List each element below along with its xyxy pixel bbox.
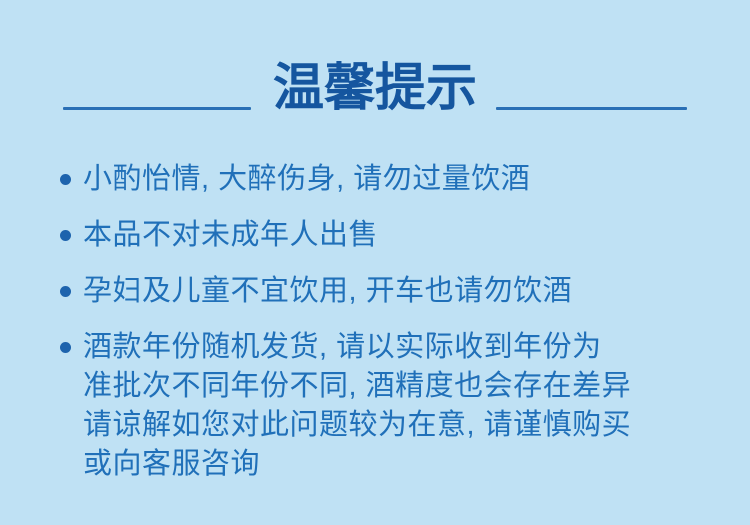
bullet-dot-icon bbox=[60, 286, 71, 297]
list-item-line: 孕妇及儿童不宜饮用, 开车也请勿饮酒 bbox=[83, 272, 720, 311]
bullet-dot-icon bbox=[60, 230, 71, 241]
bullet-dot-icon bbox=[60, 342, 71, 353]
header: 温馨提示 bbox=[0, 56, 750, 120]
list-item-line: 酒款年份随机发货, 请以实际收到年份为 bbox=[83, 328, 720, 367]
list-item: 酒款年份随机发货, 请以实际收到年份为 准批次不同年份不同, 酒精度也会存在差异… bbox=[60, 328, 720, 484]
list-item: 本品不对未成年人出售 bbox=[60, 216, 720, 255]
list-item: 小酌怡情, 大醉伤身, 请勿过量饮酒 bbox=[60, 160, 720, 199]
page-title: 温馨提示 bbox=[273, 60, 477, 116]
list-item: 孕妇及儿童不宜饮用, 开车也请勿饮酒 bbox=[60, 272, 720, 311]
notice-list: 小酌怡情, 大醉伤身, 请勿过量饮酒 本品不对未成年人出售 孕妇及儿童不宜饮用,… bbox=[60, 160, 720, 501]
list-item-text: 小酌怡情, 大醉伤身, 请勿过量饮酒 bbox=[83, 160, 720, 199]
list-item-line: 请谅解如您对此问题较为在意, 请谨慎购买 bbox=[83, 406, 720, 445]
list-item-text: 本品不对未成年人出售 bbox=[83, 216, 720, 255]
bullet-dot-icon bbox=[60, 174, 71, 185]
list-item-line: 本品不对未成年人出售 bbox=[83, 216, 720, 255]
tips-notice-card: 温馨提示 小酌怡情, 大醉伤身, 请勿过量饮酒 本品不对未成年人出售 孕妇及儿童… bbox=[0, 0, 750, 525]
list-item-line: 小酌怡情, 大醉伤身, 请勿过量饮酒 bbox=[83, 160, 720, 199]
divider-line-right-icon bbox=[496, 107, 687, 110]
list-item-line: 准批次不同年份不同, 酒精度也会存在差异 bbox=[83, 367, 720, 406]
divider-line-left-icon bbox=[63, 107, 251, 110]
list-item-line: 或向客服咨询 bbox=[83, 445, 720, 484]
list-item-text: 孕妇及儿童不宜饮用, 开车也请勿饮酒 bbox=[83, 272, 720, 311]
list-item-text: 酒款年份随机发货, 请以实际收到年份为 准批次不同年份不同, 酒精度也会存在差异… bbox=[83, 328, 720, 484]
